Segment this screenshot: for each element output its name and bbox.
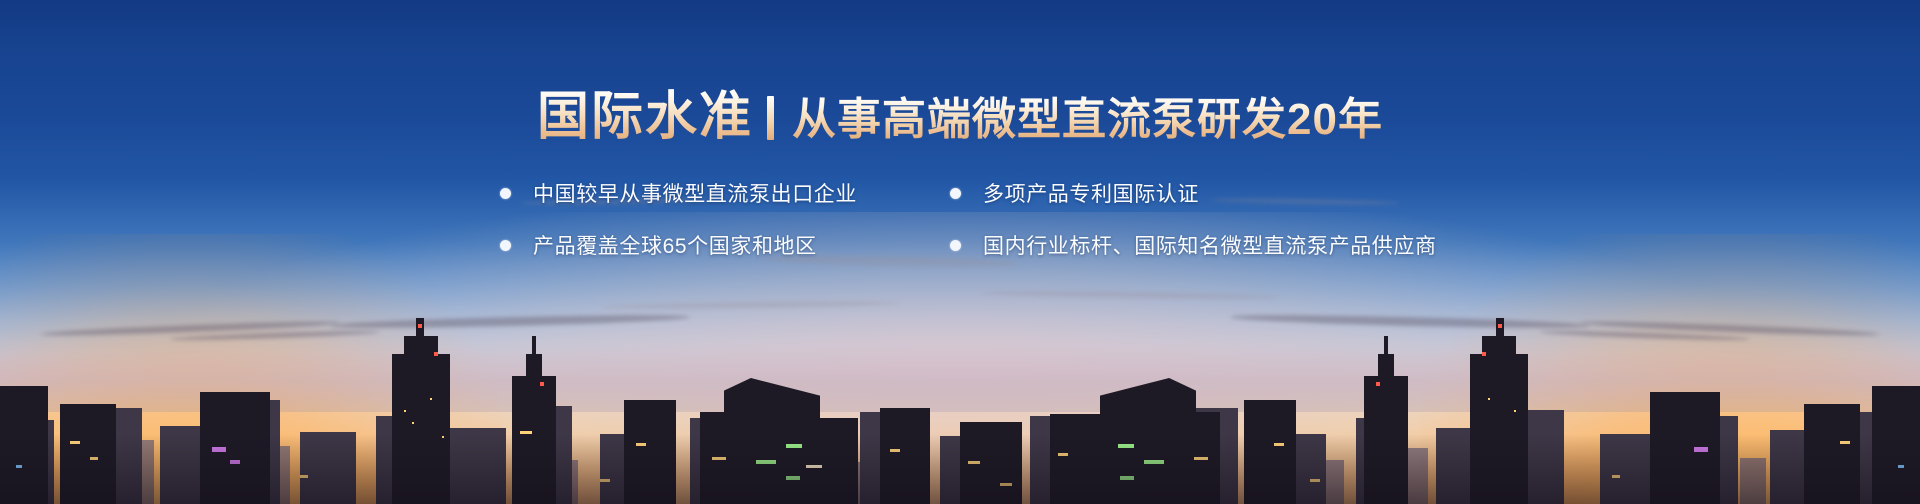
bullet-text: 多项产品专利国际认证 bbox=[983, 178, 1199, 208]
bullet-text: 中国较早从事微型直流泵出口企业 bbox=[533, 178, 857, 208]
bullet-dot-icon bbox=[950, 188, 961, 199]
list-item: 多项产品专利国际认证 bbox=[950, 178, 1420, 208]
hero-banner: 国际水准从事高端微型直流泵研发20年 中国较早从事微型直流泵出口企业 产品覆盖全… bbox=[0, 0, 1920, 504]
feature-bullets: 中国较早从事微型直流泵出口企业 产品覆盖全球65个国家和地区 多项产品专利国际认… bbox=[0, 178, 1920, 260]
banner-content: 国际水准从事高端微型直流泵研发20年 中国较早从事微型直流泵出口企业 产品覆盖全… bbox=[0, 0, 1920, 504]
bullet-dot-icon bbox=[500, 188, 511, 199]
list-item: 国内行业标杆、国际知名微型直流泵产品供应商 bbox=[950, 230, 1420, 260]
list-item: 中国较早从事微型直流泵出口企业 bbox=[500, 178, 830, 208]
headline-primary: 国际水准 bbox=[537, 88, 753, 146]
bullet-column-left: 中国较早从事微型直流泵出口企业 产品覆盖全球65个国家和地区 bbox=[500, 178, 830, 260]
headline-secondary: 从事高端微型直流泵研发20年 bbox=[792, 95, 1383, 144]
list-item: 产品覆盖全球65个国家和地区 bbox=[500, 230, 830, 260]
headline-separator-bar bbox=[767, 96, 774, 140]
bullet-dot-icon bbox=[500, 240, 511, 251]
banner-headline: 国际水准从事高端微型直流泵研发20年 bbox=[0, 88, 1920, 148]
bullet-text: 国内行业标杆、国际知名微型直流泵产品供应商 bbox=[983, 230, 1437, 260]
bullet-column-right: 多项产品专利国际认证 国内行业标杆、国际知名微型直流泵产品供应商 bbox=[950, 178, 1420, 260]
bullet-dot-icon bbox=[950, 240, 961, 251]
bullet-text: 产品覆盖全球65个国家和地区 bbox=[533, 230, 817, 260]
